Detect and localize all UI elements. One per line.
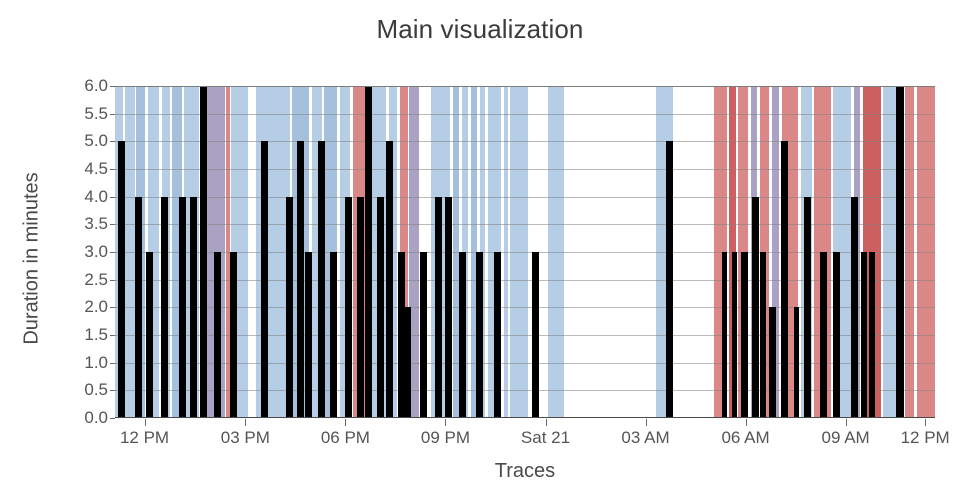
bar[interactable]: [345, 197, 352, 418]
y-tick-label: 0.0: [56, 409, 108, 426]
bar[interactable]: [833, 252, 840, 418]
bar[interactable]: [118, 141, 125, 418]
bar[interactable]: [741, 252, 748, 418]
bar[interactable]: [365, 86, 372, 418]
bar[interactable]: [722, 252, 727, 418]
bar[interactable]: [732, 252, 737, 418]
bar[interactable]: [377, 197, 384, 418]
bar[interactable]: [861, 252, 866, 418]
bar[interactable]: [405, 307, 410, 418]
plot-area[interactable]: [115, 86, 935, 418]
bar[interactable]: [494, 252, 501, 418]
bar[interactable]: [869, 252, 874, 418]
x-axis-label: Traces: [115, 460, 935, 483]
y-tick-label: 5.0: [56, 132, 108, 149]
bar[interactable]: [445, 197, 452, 418]
gridline: [115, 307, 935, 308]
bar[interactable]: [532, 252, 539, 418]
x-tick-mark: [445, 419, 446, 426]
x-tick-mark: [345, 419, 346, 426]
bar[interactable]: [161, 197, 168, 418]
bar[interactable]: [435, 197, 442, 418]
x-tick-mark: [546, 419, 547, 426]
bar[interactable]: [398, 252, 405, 418]
bar[interactable]: [214, 252, 221, 418]
bar[interactable]: [752, 197, 759, 418]
gridline: [115, 224, 935, 225]
bar[interactable]: [357, 197, 364, 418]
bar[interactable]: [476, 252, 483, 418]
bar[interactable]: [794, 307, 799, 418]
gridline: [115, 280, 935, 281]
gridline: [115, 363, 935, 364]
gridline: [115, 197, 935, 198]
y-tick-label: 2.5: [56, 271, 108, 288]
bar[interactable]: [459, 252, 466, 418]
bar[interactable]: [297, 141, 304, 418]
bar[interactable]: [261, 141, 268, 418]
gridline: [115, 86, 935, 87]
x-tick-mark: [746, 419, 747, 426]
bar[interactable]: [420, 252, 427, 418]
x-tick-mark: [145, 419, 146, 426]
y-tick-label: 0.5: [56, 381, 108, 398]
chart-title: Main visualization: [0, 14, 960, 45]
y-tick-label: 3.5: [56, 215, 108, 232]
x-tick-mark: [646, 419, 647, 426]
y-tick-label: 1.5: [56, 326, 108, 343]
y-axis-ticks: 0.00.51.01.52.02.53.03.54.04.55.05.56.0: [0, 0, 108, 500]
x-tick-mark: [925, 419, 926, 426]
x-tick-mark: [846, 419, 847, 426]
y-tick-label: 5.5: [56, 105, 108, 122]
x-tick-label: 12 PM: [865, 428, 960, 448]
gridline: [115, 141, 935, 142]
gridline: [115, 169, 935, 170]
y-tick-mark: [110, 418, 115, 419]
bar[interactable]: [286, 197, 293, 418]
bar[interactable]: [330, 252, 337, 418]
bar[interactable]: [190, 197, 197, 418]
bar[interactable]: [851, 197, 858, 418]
bar[interactable]: [760, 252, 765, 418]
y-tick-label: 4.0: [56, 188, 108, 205]
gridline: [115, 252, 935, 253]
bar[interactable]: [179, 197, 186, 418]
y-tick-label: 1.0: [56, 354, 108, 371]
bar[interactable]: [230, 252, 237, 418]
bar[interactable]: [896, 86, 905, 418]
gridline: [115, 390, 935, 391]
bar[interactable]: [769, 307, 776, 418]
y-tick-label: 3.0: [56, 243, 108, 260]
bar[interactable]: [135, 197, 142, 418]
y-tick-label: 2.0: [56, 298, 108, 315]
bar[interactable]: [804, 197, 811, 418]
bar[interactable]: [386, 141, 393, 418]
bar[interactable]: [200, 86, 207, 418]
bar[interactable]: [666, 141, 673, 418]
bar[interactable]: [781, 141, 788, 418]
y-tick-label: 4.5: [56, 160, 108, 177]
x-tick-mark: [245, 419, 246, 426]
y-tick-label: 6.0: [56, 77, 108, 94]
bar[interactable]: [820, 252, 827, 418]
chart-figure: Main visualization Duration in minutes 0…: [0, 0, 960, 500]
gridline: [115, 335, 935, 336]
gridline: [115, 114, 935, 115]
bar[interactable]: [305, 252, 312, 418]
bar[interactable]: [318, 141, 325, 418]
bar[interactable]: [146, 252, 153, 418]
